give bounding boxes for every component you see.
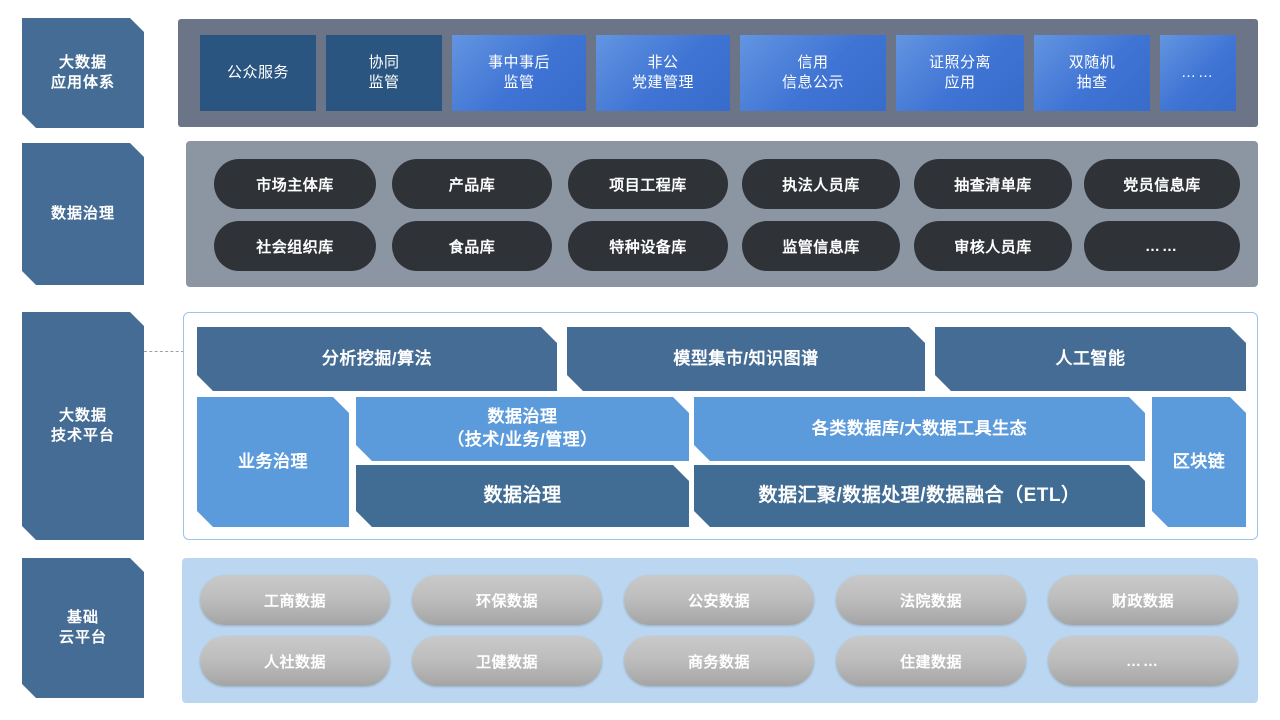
cloud-pill-public-security-data[interactable]: 公安数据 bbox=[624, 575, 814, 625]
app-tile-collaborative-supervision[interactable]: 协同 监管 bbox=[326, 35, 442, 111]
app-tile-label: …… bbox=[1181, 63, 1215, 83]
layer-label-tech-platform: 大数据 技术平台 bbox=[22, 312, 144, 540]
governance-panel: 市场主体库 产品库 项目工程库 执法人员库 抽查清单库 党员信息库 社会组织库 … bbox=[186, 141, 1258, 287]
db-pill-party-member-info[interactable]: 党员信息库 bbox=[1084, 159, 1240, 209]
db-pill-label: 党员信息库 bbox=[1123, 174, 1201, 195]
db-pill-label: 产品库 bbox=[449, 174, 496, 195]
app-tile-more[interactable]: …… bbox=[1160, 35, 1236, 111]
layer-label-cloud-platform-text: 基础 云平台 bbox=[59, 608, 107, 649]
cloud-pill-court-data[interactable]: 法院数据 bbox=[836, 575, 1026, 625]
cloud-pill-more[interactable]: …… bbox=[1048, 636, 1238, 686]
tech-box-label: 分析挖掘/算法 bbox=[322, 348, 432, 371]
app-tile-label: 公众服务 bbox=[227, 63, 289, 83]
app-tile-label: 非公 党建管理 bbox=[632, 53, 694, 94]
tech-box-etl[interactable]: 数据汇聚/数据处理/数据融合（ETL） bbox=[694, 465, 1145, 527]
cloud-pill-label: 财政数据 bbox=[1112, 590, 1174, 611]
tech-box-label: 数据治理 bbox=[483, 483, 561, 509]
app-tile-label: 协同 监管 bbox=[368, 53, 399, 94]
db-pill-label: …… bbox=[1145, 238, 1179, 255]
cloud-pill-label: 人社数据 bbox=[264, 651, 326, 672]
layer-label-tech-platform-text: 大数据 技术平台 bbox=[51, 406, 115, 447]
db-pill-label: 特种设备库 bbox=[609, 236, 687, 257]
tech-box-label: 区块链 bbox=[1173, 451, 1226, 474]
cloud-pill-label: 商务数据 bbox=[688, 651, 750, 672]
layer-label-application-text: 大数据 应用体系 bbox=[51, 53, 115, 94]
cloud-pill-human-resources-data[interactable]: 人社数据 bbox=[200, 636, 390, 686]
tech-box-label: 模型集市/知识图谱 bbox=[673, 348, 818, 371]
tech-box-label: 数据汇聚/数据处理/数据融合（ETL） bbox=[759, 483, 1081, 509]
app-tile-label: 信用 信息公示 bbox=[782, 53, 844, 94]
db-pill-label: 监管信息库 bbox=[782, 236, 860, 257]
cloud-pill-housing-construction-data[interactable]: 住建数据 bbox=[836, 636, 1026, 686]
app-tile-nonpublic-party-building[interactable]: 非公 党建管理 bbox=[596, 35, 730, 111]
layer-label-governance: 数据治理 bbox=[22, 143, 144, 285]
cloud-pill-label: 住建数据 bbox=[900, 651, 962, 672]
tech-platform-panel: 分析挖掘/算法 模型集市/知识图谱 人工智能 业务治理 数据治理 （技术/业务/… bbox=[183, 312, 1258, 540]
db-pill-social-organization[interactable]: 社会组织库 bbox=[214, 221, 376, 271]
tech-box-artificial-intelligence[interactable]: 人工智能 bbox=[935, 327, 1246, 391]
tech-box-label: 各类数据库/大数据工具生态 bbox=[812, 418, 1027, 441]
app-tile-public-service[interactable]: 公众服务 bbox=[200, 35, 316, 111]
tech-box-analysis-mining-algorithm[interactable]: 分析挖掘/算法 bbox=[197, 327, 557, 391]
application-panel: 公众服务 协同 监管 事中事后 监管 非公 党建管理 信用 信息公示 证照分离 … bbox=[178, 19, 1258, 127]
tech-platform-connector bbox=[144, 351, 184, 352]
cloud-pill-commerce-data[interactable]: 商务数据 bbox=[624, 636, 814, 686]
cloud-platform-panel: 工商数据 环保数据 公安数据 法院数据 财政数据 人社数据 卫健数据 商务数据 … bbox=[182, 558, 1258, 703]
tech-box-label: 人工智能 bbox=[1056, 348, 1126, 371]
tech-box-database-bigdata-ecosystem[interactable]: 各类数据库/大数据工具生态 bbox=[694, 397, 1145, 461]
db-pill-audit-personnel[interactable]: 审核人员库 bbox=[914, 221, 1072, 271]
cloud-pill-label: 卫健数据 bbox=[476, 651, 538, 672]
db-pill-supervision-info[interactable]: 监管信息库 bbox=[742, 221, 900, 271]
db-pill-inspection-list[interactable]: 抽查清单库 bbox=[914, 159, 1072, 209]
layer-label-application: 大数据 应用体系 bbox=[22, 18, 144, 128]
db-pill-food[interactable]: 食品库 bbox=[392, 221, 552, 271]
tech-box-label: 业务治理 bbox=[238, 451, 308, 474]
db-pill-label: 社会组织库 bbox=[256, 236, 334, 257]
db-pill-project-engineering[interactable]: 项目工程库 bbox=[568, 159, 728, 209]
db-pill-label: 食品库 bbox=[449, 236, 496, 257]
app-tile-during-after-supervision[interactable]: 事中事后 监管 bbox=[452, 35, 586, 111]
tech-box-blockchain[interactable]: 区块链 bbox=[1152, 397, 1246, 527]
db-pill-label: 市场主体库 bbox=[256, 174, 334, 195]
app-tile-double-random-inspection[interactable]: 双随机 抽查 bbox=[1034, 35, 1150, 111]
app-tile-label: 事中事后 监管 bbox=[488, 53, 550, 94]
app-tile-label: 证照分离 应用 bbox=[929, 53, 991, 94]
db-pill-label: 项目工程库 bbox=[609, 174, 687, 195]
tech-box-data-governance[interactable]: 数据治理 bbox=[356, 465, 689, 527]
layer-label-governance-text: 数据治理 bbox=[51, 204, 115, 224]
db-pill-product[interactable]: 产品库 bbox=[392, 159, 552, 209]
app-tile-credit-disclosure[interactable]: 信用 信息公示 bbox=[740, 35, 886, 111]
cloud-pill-finance-data[interactable]: 财政数据 bbox=[1048, 575, 1238, 625]
architecture-diagram: 大数据 应用体系 公众服务 协同 监管 事中事后 监管 非公 党建管理 信用 信… bbox=[0, 0, 1280, 720]
tech-box-label: 数据治理 （技术/业务/管理） bbox=[447, 406, 597, 452]
cloud-pill-environmental-data[interactable]: 环保数据 bbox=[412, 575, 602, 625]
db-pill-label: 抽查清单库 bbox=[954, 174, 1032, 195]
cloud-pill-label: 公安数据 bbox=[688, 590, 750, 611]
db-pill-more[interactable]: …… bbox=[1084, 221, 1240, 271]
tech-box-model-market-knowledge-graph[interactable]: 模型集市/知识图谱 bbox=[567, 327, 925, 391]
cloud-pill-label: 工商数据 bbox=[264, 590, 326, 611]
tech-box-data-governance-detail[interactable]: 数据治理 （技术/业务/管理） bbox=[356, 397, 689, 461]
db-pill-market-entity[interactable]: 市场主体库 bbox=[214, 159, 376, 209]
app-tile-label: 双随机 抽查 bbox=[1069, 53, 1116, 94]
cloud-pill-industry-commerce-data[interactable]: 工商数据 bbox=[200, 575, 390, 625]
layer-label-cloud-platform: 基础 云平台 bbox=[22, 558, 144, 698]
tech-box-business-governance[interactable]: 业务治理 bbox=[197, 397, 349, 527]
app-tile-license-separation[interactable]: 证照分离 应用 bbox=[896, 35, 1024, 111]
cloud-pill-health-data[interactable]: 卫健数据 bbox=[412, 636, 602, 686]
db-pill-label: 审核人员库 bbox=[954, 236, 1032, 257]
cloud-pill-label: 环保数据 bbox=[476, 590, 538, 611]
cloud-pill-label: 法院数据 bbox=[900, 590, 962, 611]
cloud-pill-label: …… bbox=[1126, 653, 1160, 670]
db-pill-label: 执法人员库 bbox=[782, 174, 860, 195]
db-pill-special-equipment[interactable]: 特种设备库 bbox=[568, 221, 728, 271]
db-pill-law-enforcement-personnel[interactable]: 执法人员库 bbox=[742, 159, 900, 209]
